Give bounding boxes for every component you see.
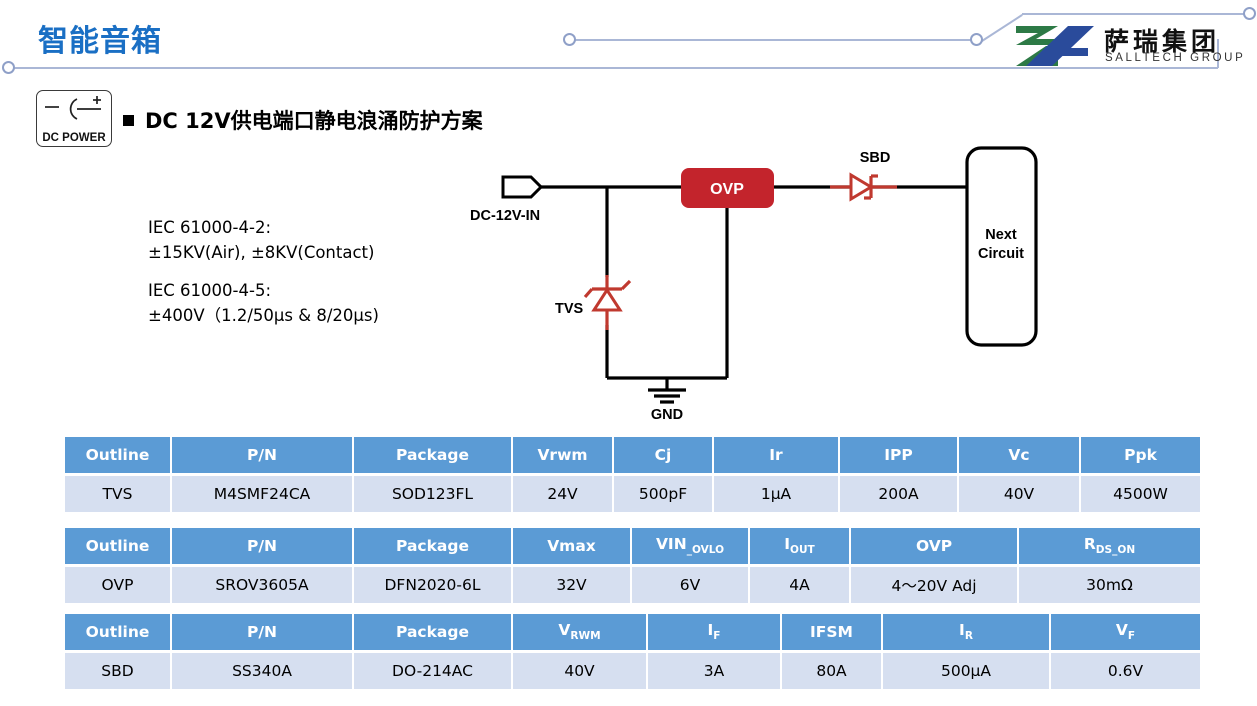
th-ppk: Ppk [1080, 437, 1200, 475]
td-iout: 4A [749, 566, 850, 604]
th-outline: Outline [65, 437, 171, 475]
td-ipp: 200A [839, 475, 958, 513]
tvs-table: Outline P/N Package Vrwm Cj Ir IPP Vc Pp… [65, 437, 1200, 512]
th-vmax: Vmax [512, 528, 631, 566]
td-ifsm: 80A [781, 652, 882, 690]
th-pn: P/N [171, 437, 353, 475]
td-cj: 500pF [613, 475, 713, 513]
ovp-table: Outline P/N Package Vmax VIN_OVLO IOUT O… [65, 528, 1200, 603]
td-rds-on: 30mΩ [1018, 566, 1200, 604]
td-ir: 1μA [713, 475, 839, 513]
td-vc: 40V [958, 475, 1080, 513]
tvs-diode-icon [594, 290, 620, 310]
th-vc: Vc [958, 437, 1080, 475]
th-ir: IR [882, 614, 1050, 652]
th-pn: P/N [171, 528, 353, 566]
th-vin-ovlo: VIN_OVLO [631, 528, 749, 566]
th-outline: Outline [65, 528, 171, 566]
th-rds-on: RDS_ON [1018, 528, 1200, 566]
input-connector-icon [503, 177, 541, 197]
tvs-tick-upper [622, 281, 630, 289]
td-package: SOD123FL [353, 475, 512, 513]
sbd-diode-icon [851, 175, 871, 199]
td-vrwm: 40V [512, 652, 647, 690]
th-pn: P/N [171, 614, 353, 652]
td-outline: TVS [65, 475, 171, 513]
td-outline: OVP [65, 566, 171, 604]
th-vf: VF [1050, 614, 1200, 652]
th-package: Package [353, 437, 512, 475]
th-ovp: OVP [850, 528, 1018, 566]
th-if: IF [647, 614, 781, 652]
td-vrwm: 24V [512, 475, 613, 513]
th-package: Package [353, 614, 512, 652]
td-pn: M4SMF24CA [171, 475, 353, 513]
td-ir: 500μA [882, 652, 1050, 690]
table-row: OVP SROV3605A DFN2020-6L 32V 6V 4A 4～20V… [65, 566, 1200, 604]
th-package: Package [353, 528, 512, 566]
sbd-table: Outline P/N Package VRWM IF IFSM IR VF S… [65, 614, 1200, 689]
label-next: Next [985, 227, 1017, 243]
td-pn: SROV3605A [171, 566, 353, 604]
td-ppk: 4500W [1080, 475, 1200, 513]
table-row: SBD SS340A DO-214AC 40V 3A 80A 500μA 0.6… [65, 652, 1200, 690]
label-circuit: Circuit [978, 246, 1024, 262]
th-ifsm: IFSM [781, 614, 882, 652]
td-vin-ovlo: 6V [631, 566, 749, 604]
td-vmax: 32V [512, 566, 631, 604]
table-header-row: Outline P/N Package Vrwm Cj Ir IPP Vc Pp… [65, 437, 1200, 475]
td-vf: 0.6V [1050, 652, 1200, 690]
th-ir: Ir [713, 437, 839, 475]
circuit-diagram: DC-12V-IN TVS OVP SBD GND Next Circuit [0, 0, 1257, 430]
th-ipp: IPP [839, 437, 958, 475]
label-tvs: TVS [555, 301, 584, 317]
tvs-tick-lower [585, 289, 592, 297]
th-cj: Cj [613, 437, 713, 475]
label-gnd: GND [651, 407, 683, 423]
td-outline: SBD [65, 652, 171, 690]
label-sbd: SBD [860, 150, 891, 166]
table-row: TVS M4SMF24CA SOD123FL 24V 500pF 1μA 200… [65, 475, 1200, 513]
label-dc-12v-in: DC-12V-IN [470, 208, 540, 224]
table-header-row: Outline P/N Package Vmax VIN_OVLO IOUT O… [65, 528, 1200, 566]
th-vrwm: Vrwm [512, 437, 613, 475]
td-if: 3A [647, 652, 781, 690]
th-iout: IOUT [749, 528, 850, 566]
td-ovp: 4～20V Adj [850, 566, 1018, 604]
label-ovp: OVP [710, 181, 744, 198]
table-header-row: Outline P/N Package VRWM IF IFSM IR VF [65, 614, 1200, 652]
th-outline: Outline [65, 614, 171, 652]
td-package: DO-214AC [353, 652, 512, 690]
th-vrwm: VRWM [512, 614, 647, 652]
td-package: DFN2020-6L [353, 566, 512, 604]
td-pn: SS340A [171, 652, 353, 690]
